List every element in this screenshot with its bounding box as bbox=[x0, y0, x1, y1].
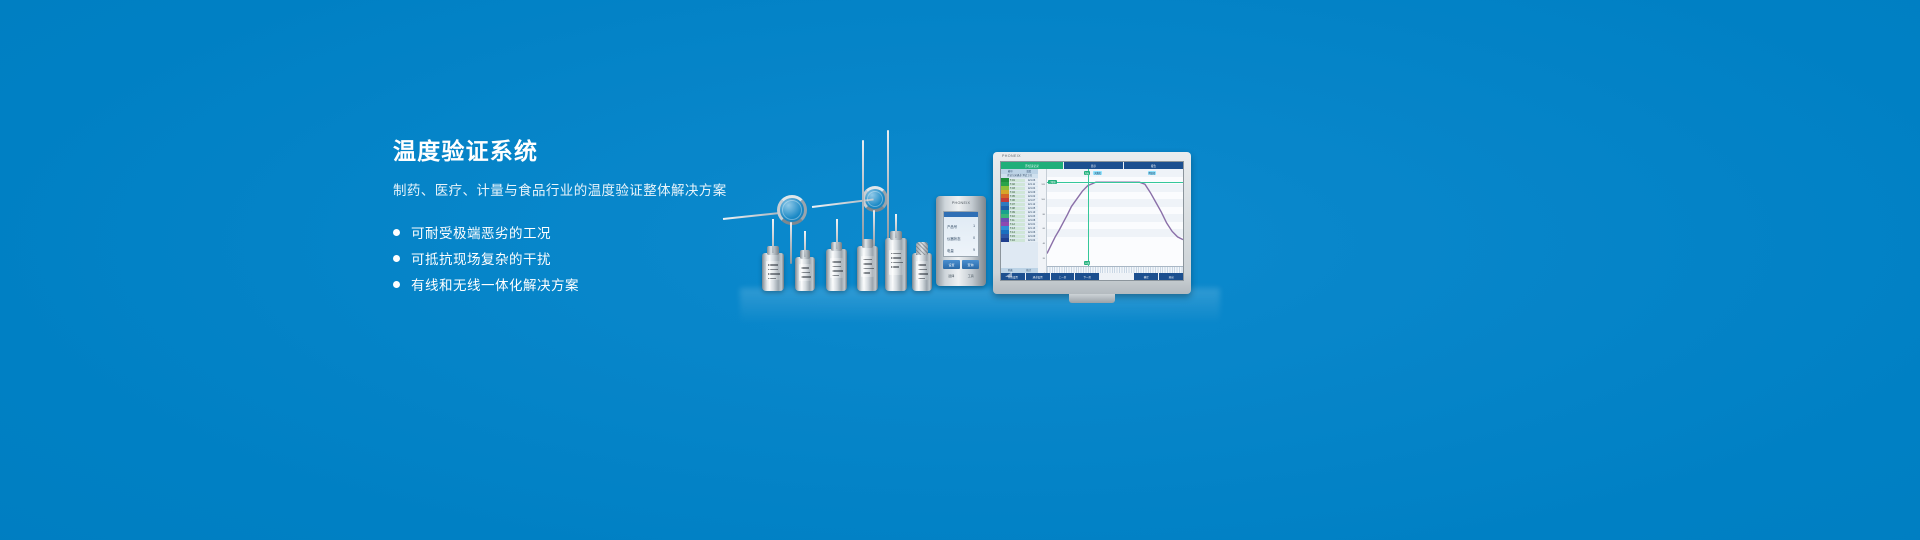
channel-temperature: 121.06 bbox=[1025, 179, 1038, 182]
channel-name: T-07 bbox=[1009, 203, 1025, 206]
row-label: 仪器状态 bbox=[947, 236, 961, 241]
chart-annotation-sterilize: 灭菌段 bbox=[1093, 171, 1102, 175]
row-value: 1 bbox=[973, 224, 975, 229]
channel-name: T-14 bbox=[1009, 231, 1025, 234]
channel-name: T-01 bbox=[1009, 179, 1025, 182]
y-axis-tick: 100 bbox=[1041, 199, 1045, 201]
chart-plot-area: 上限值 灭菌段 降温段 光标 F0值 bbox=[1047, 169, 1183, 266]
y-axis-tick: 40 bbox=[1043, 243, 1045, 245]
logger-tip bbox=[836, 219, 838, 249]
channel-temperature: 121.09 bbox=[1025, 191, 1038, 194]
channel-temperature: 121.10 bbox=[1025, 211, 1038, 214]
hero-banner: 温度验证系统 制药、医疗、计量与食品行业的温度验证整体解决方案 可耐受极端恶劣的… bbox=[0, 0, 1920, 540]
monitor-stand bbox=[1069, 294, 1115, 303]
handheld-brand-label: PHONEIX bbox=[936, 201, 986, 205]
channel-temperature: 121.01 bbox=[1025, 223, 1038, 226]
next-page-button[interactable]: 下一页 bbox=[1075, 273, 1099, 280]
channel-name: T-09 bbox=[1009, 211, 1025, 214]
feature-label: 有线和无线一体化解决方案 bbox=[411, 274, 579, 294]
list-item: 可抵抗现场复杂的干扰 bbox=[393, 245, 813, 271]
row-label: 电量 bbox=[947, 248, 954, 253]
channel-table[interactable]: 编号 温度 验证记录通道 测试工况 T-01121.06T-02121.11T-… bbox=[1001, 169, 1038, 273]
feature-label: 可耐受极端恶劣的工况 bbox=[411, 222, 551, 242]
y-axis-tick: 80 bbox=[1043, 214, 1045, 216]
channel-temperature: 121.06 bbox=[1025, 231, 1038, 234]
channel-name: T-02 bbox=[1009, 183, 1025, 186]
handheld-keypad[interactable]: 设置 查询 bbox=[943, 260, 979, 269]
monitor-brand-label: PHONEIX bbox=[1002, 154, 1021, 158]
channel-name: T-05 bbox=[1009, 195, 1025, 198]
logger-highlight bbox=[801, 258, 803, 290]
handheld-softkey-select[interactable]: 选择 bbox=[948, 274, 954, 278]
channel-name: T-15 bbox=[1009, 235, 1025, 238]
channel-name: T-04 bbox=[1009, 191, 1025, 194]
channel-color-swatch bbox=[1001, 238, 1009, 242]
validation-monitor: PHONEIX 开/结束记录 显示 报告 编号 温度 验证记录通道 测试工况 T… bbox=[993, 152, 1191, 294]
data-logger bbox=[885, 238, 907, 291]
handheld-key-setting[interactable]: 设置 bbox=[943, 260, 960, 269]
button-bar-spacer bbox=[1100, 273, 1133, 280]
hero-subtitle: 制药、医疗、计量与食品行业的温度验证整体解决方案 bbox=[393, 182, 813, 201]
channel-settings-button[interactable]: 通道设置 bbox=[1026, 273, 1050, 280]
data-logger-mesh bbox=[912, 253, 932, 291]
channel-temperature: 121.13 bbox=[1025, 227, 1038, 230]
channel-name: T-11 bbox=[1009, 219, 1025, 222]
bullet-dot-icon bbox=[393, 229, 400, 236]
table-row: 仪器状态 0 bbox=[944, 236, 978, 241]
channel-temperature: 121.05 bbox=[1025, 207, 1038, 210]
exit-button[interactable]: 退出 bbox=[1159, 273, 1183, 280]
table-body[interactable]: T-01121.06T-02121.11T-03121.04T-04121.09… bbox=[1001, 178, 1038, 268]
chart-annotation-cooling: 降温段 bbox=[1148, 171, 1157, 175]
channel-temperature: 121.02 bbox=[1025, 195, 1038, 198]
row-label: 产品号 bbox=[947, 224, 957, 229]
long-probe-stem bbox=[862, 140, 864, 246]
chart-cursor-line[interactable] bbox=[1088, 169, 1089, 266]
software-button-bar[interactable]: 系统设置 通道设置 上一页 下一页 确定 退出 bbox=[1001, 273, 1183, 280]
chart-annotation-upper-limit: 上限值 bbox=[1048, 180, 1057, 184]
channel-temperature: 121.04 bbox=[1025, 239, 1038, 242]
list-item: 可耐受极端恶劣的工况 bbox=[393, 219, 813, 245]
bullet-dot-icon bbox=[393, 281, 400, 288]
monitor-screen: 开/结束记录 显示 报告 编号 温度 验证记录通道 测试工况 T-01121.0… bbox=[1000, 161, 1184, 281]
logger-highlight bbox=[769, 254, 771, 290]
channel-name: T-03 bbox=[1009, 187, 1025, 190]
channel-temperature: 121.11 bbox=[1025, 183, 1038, 186]
channel-temperature: 121.04 bbox=[1025, 187, 1038, 190]
table-row[interactable]: T-16121.04 bbox=[1001, 238, 1038, 242]
logger-tip bbox=[772, 219, 774, 253]
probe-coil-icon bbox=[777, 195, 807, 225]
data-logger bbox=[762, 253, 784, 291]
y-axis-tick: 60 bbox=[1043, 228, 1045, 230]
software-body: 编号 温度 验证记录通道 测试工况 T-01121.06T-02121.11T-… bbox=[1001, 169, 1183, 273]
channel-temperature: 121.12 bbox=[1025, 203, 1038, 206]
system-settings-button[interactable]: 系统设置 bbox=[1001, 273, 1025, 280]
channel-temperature: 121.03 bbox=[1025, 215, 1038, 218]
chart-y-axis: 020406080100120 bbox=[1038, 169, 1047, 273]
channel-name: T-06 bbox=[1009, 199, 1025, 202]
bullet-dot-icon bbox=[393, 255, 400, 262]
table-row: 电量 9 bbox=[944, 248, 978, 253]
chart-line-series bbox=[1047, 169, 1183, 266]
row-value: 0 bbox=[973, 236, 975, 241]
channel-temperature: 121.08 bbox=[1025, 219, 1038, 222]
tab-display[interactable]: 显示 bbox=[1064, 162, 1123, 169]
handheld-softkeys[interactable]: 选择 工具 bbox=[943, 272, 979, 279]
channel-name: T-12 bbox=[1009, 223, 1025, 226]
software-toolbar[interactable]: 开/结束记录 显示 报告 bbox=[1001, 162, 1183, 169]
data-logger bbox=[826, 249, 847, 291]
hero-copy: 温度验证系统 制药、医疗、计量与食品行业的温度验证整体解决方案 可耐受极端恶劣的… bbox=[393, 138, 813, 297]
data-logger bbox=[795, 257, 815, 291]
prev-page-button[interactable]: 上一页 bbox=[1051, 273, 1075, 280]
handheld-key-query[interactable]: 查询 bbox=[962, 260, 979, 269]
chart-annotation-f0: F0值 bbox=[1084, 261, 1091, 265]
tab-report[interactable]: 报告 bbox=[1124, 162, 1183, 169]
channel-name: T-10 bbox=[1009, 215, 1025, 218]
logger-mesh-filter-icon bbox=[916, 242, 928, 255]
confirm-button[interactable]: 确定 bbox=[1134, 273, 1158, 280]
logger-highlight bbox=[892, 240, 894, 290]
y-axis-tick: 0 bbox=[1044, 273, 1045, 275]
channel-name: T-13 bbox=[1009, 227, 1025, 230]
page-title: 温度验证系统 bbox=[393, 138, 813, 166]
long-probe-stem bbox=[887, 130, 889, 246]
logger-highlight bbox=[918, 254, 920, 290]
channel-name: T-08 bbox=[1009, 207, 1025, 210]
chart-scrollbar[interactable] bbox=[1047, 266, 1183, 273]
probe-coil-icon bbox=[862, 186, 888, 212]
chart-limit-line bbox=[1047, 182, 1183, 183]
temperature-chart: 020406080100120 上限值 灭菌段 降温段 光标 bbox=[1038, 169, 1183, 273]
feature-list: 可耐受极端恶劣的工况 可抵抗现场复杂的干扰 有线和无线一体化解决方案 bbox=[393, 219, 813, 297]
channel-temperature: 121.07 bbox=[1025, 199, 1038, 202]
handheld-screen: 产品号 1 仪器状态 0 电量 9 bbox=[943, 211, 979, 257]
logger-tip bbox=[895, 214, 897, 238]
logger-cap bbox=[862, 239, 873, 248]
logger-tip bbox=[804, 231, 806, 257]
handheld-screen-titlebar bbox=[944, 212, 978, 217]
channel-temperature: 121.09 bbox=[1025, 235, 1038, 238]
channel-name: T-16 bbox=[1009, 239, 1025, 242]
table-row: 产品号 1 bbox=[944, 224, 978, 229]
data-logger bbox=[857, 246, 878, 291]
tab-start-stop-record[interactable]: 开/结束记录 bbox=[1001, 162, 1063, 169]
handheld-reader[interactable]: PHONEIX 产品号 1 仪器状态 0 电量 9 设置 查询 选择 工具 bbox=[936, 196, 986, 286]
chart-annotation-cursor: 光标 bbox=[1084, 171, 1090, 175]
y-axis-tick: 120 bbox=[1041, 184, 1045, 186]
row-value: 9 bbox=[973, 248, 975, 253]
y-axis-tick: 20 bbox=[1043, 258, 1045, 260]
feature-label: 可抵抗现场复杂的干扰 bbox=[411, 248, 551, 268]
handheld-softkey-tools[interactable]: 工具 bbox=[968, 274, 974, 278]
